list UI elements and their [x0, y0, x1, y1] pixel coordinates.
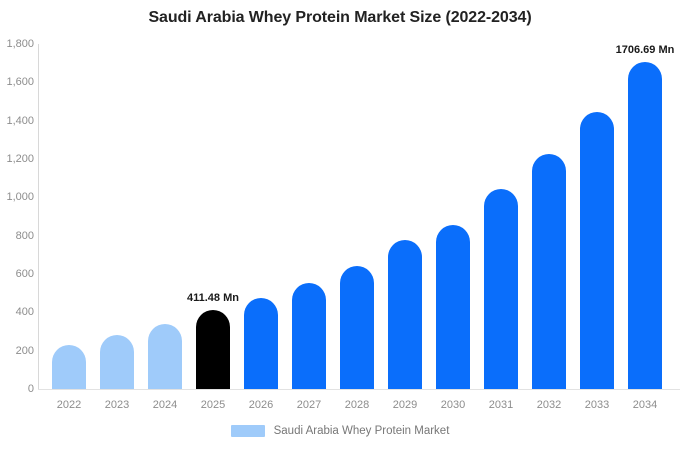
x-axis-tick: 2030: [441, 399, 465, 411]
bar[interactable]: [484, 189, 518, 389]
x-axis-line: [38, 389, 680, 390]
x-axis-tick: 2028: [345, 399, 369, 411]
bar[interactable]: [628, 62, 662, 389]
y-axis-tick-labels: 02004006008001,0001,2001,4001,6001,800: [0, 0, 34, 450]
x-axis-tick: 2034: [633, 399, 657, 411]
y-axis-tick: 1,000: [0, 191, 34, 203]
y-axis-tick: 1,400: [0, 115, 34, 127]
y-axis-tick: 400: [0, 306, 34, 318]
y-axis-tick: 1,200: [0, 153, 34, 165]
x-axis-tick: 2031: [489, 399, 513, 411]
chart-title: Saudi Arabia Whey Protein Market Size (2…: [0, 9, 680, 27]
legend-label: Saudi Arabia Whey Protein Market: [274, 425, 450, 437]
x-axis-tick: 2026: [249, 399, 273, 411]
legend-item[interactable]: Saudi Arabia Whey Protein Market: [231, 425, 450, 437]
y-axis-tick: 0: [0, 383, 34, 395]
x-axis-tick: 2027: [297, 399, 321, 411]
bar-chart: Saudi Arabia Whey Protein Market Size (2…: [0, 0, 680, 450]
bar[interactable]: [100, 335, 134, 389]
y-axis-tick: 800: [0, 230, 34, 242]
bar[interactable]: [52, 345, 86, 389]
chart-legend: Saudi Arabia Whey Protein Market: [0, 425, 680, 437]
bar[interactable]: [532, 154, 566, 389]
y-axis-tick: 1,600: [0, 76, 34, 88]
bar[interactable]: [340, 266, 374, 389]
x-axis-tick: 2032: [537, 399, 561, 411]
bar-value-label: 411.48 Mn: [187, 292, 239, 304]
x-axis-tick: 2025: [201, 399, 225, 411]
bar[interactable]: [436, 225, 470, 389]
bar[interactable]: [196, 310, 230, 389]
x-axis-tick: 2022: [57, 399, 81, 411]
bar[interactable]: [292, 283, 326, 389]
legend-swatch: [231, 425, 265, 437]
bar[interactable]: [148, 324, 182, 389]
x-axis-tick: 2024: [153, 399, 177, 411]
bar[interactable]: [388, 240, 422, 389]
y-axis-tick: 1,800: [0, 38, 34, 50]
bar[interactable]: [580, 112, 614, 389]
bar-value-label: 1706.69 Mn: [616, 44, 675, 56]
plot-area: [38, 44, 680, 389]
bar[interactable]: [244, 298, 278, 389]
y-axis-tick: 600: [0, 268, 34, 280]
x-axis-tick: 2029: [393, 399, 417, 411]
x-axis-tick: 2033: [585, 399, 609, 411]
y-axis-tick: 200: [0, 345, 34, 357]
x-axis-tick: 2023: [105, 399, 129, 411]
